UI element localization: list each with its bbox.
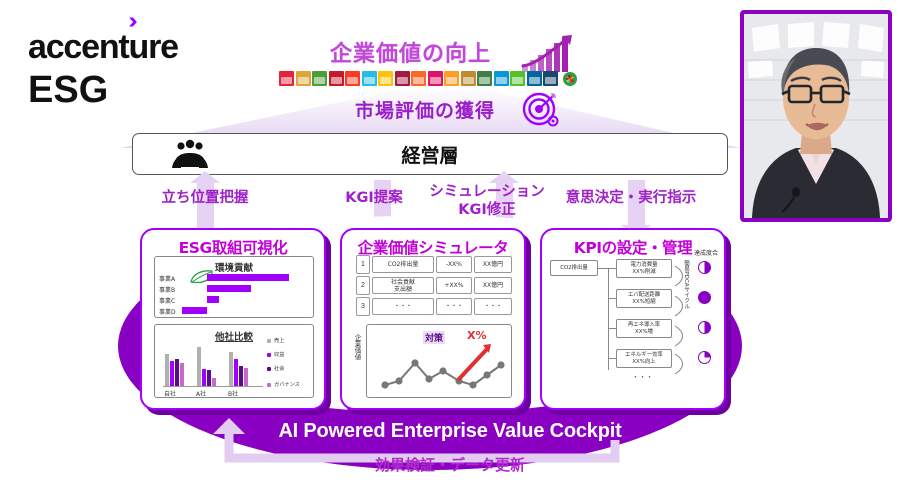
sdg-icon [510, 71, 525, 86]
sim-table-row[interactable]: 1 CO2排出量 -XX% XX億円 [356, 255, 512, 274]
sdg-wheel-icon [563, 72, 577, 86]
peer-bar [197, 347, 201, 387]
kpi-child-value-3: XX%増 [635, 329, 653, 336]
legend-swatch [267, 367, 271, 371]
peer-bar [229, 352, 233, 387]
legend-swatch [267, 353, 271, 357]
peer-legend-2: 社会 [274, 365, 284, 372]
arrow-head-icon [489, 171, 519, 183]
cockpit-banner-label: AI Powered Enterprise Value Cockpit [0, 420, 900, 443]
brand-wordmark: accenture › [28, 30, 178, 64]
peer-comparison-chart: 他社比較 自社 A社 B社 [154, 324, 314, 398]
slide-canvas: accenture › ESG 企業価値の向上 市場評価の獲得 [0, 0, 900, 490]
peer-chart-title: 他社比較 [155, 329, 313, 343]
peer-cat-0: 自社 [164, 389, 176, 398]
env-bar-0 [207, 274, 289, 281]
env-cat-3: 事業D [159, 307, 176, 316]
sim-row-number: 3 [356, 297, 370, 316]
env-bar-1 [207, 285, 251, 292]
legend-swatch [267, 383, 271, 387]
sim-row-delta: +XX% [436, 277, 472, 294]
kpi-connector [608, 358, 616, 359]
sdg-icon [494, 71, 509, 86]
gauge-column-header: 達成度合 [694, 248, 718, 257]
sim-row-number: 2 [356, 276, 370, 295]
sdg-icon [444, 71, 459, 86]
presenter-video[interactable] [740, 10, 892, 222]
kpi-gauge-2 [698, 291, 711, 304]
sdg-icon [329, 71, 344, 86]
sdg-icon [279, 71, 294, 86]
people-group-icon [170, 139, 210, 169]
pdca-cycle-label: 簡易PDCAサイクル [682, 260, 690, 309]
peer-bar [170, 361, 174, 387]
kpi-child-value-2: XX%短縮 [632, 299, 655, 306]
flow-label-4: 意思決定・実行指示 [552, 190, 710, 207]
sim-row-delta: -XX% [436, 256, 472, 273]
env-contribution-chart: 環境貢献 事業A 事業B 事業C 事業D [154, 256, 314, 318]
flow-label-1: 立ち位置把握 [150, 190, 260, 207]
headline-market-evaluation: 市場評価の獲得 [355, 96, 495, 123]
sdg-icon [461, 71, 476, 86]
legend-swatch [267, 339, 271, 343]
executive-layer-label: 経営層 [401, 141, 458, 168]
sim-graph-yaxis-label: 企業価値 [352, 334, 362, 360]
kpi-child-node[interactable]: エバ配送距離 XX%短縮 [616, 289, 672, 308]
peer-legend-1: 収益 [274, 351, 284, 358]
sim-row-item-line1: 社会貢献 [391, 279, 415, 286]
sim-trend-line [367, 325, 513, 399]
brand-subtitle: ESG [28, 68, 178, 112]
sdg-icon [428, 71, 443, 86]
brand-name: accenture [28, 28, 178, 66]
env-bar-2 [207, 296, 219, 303]
flow-label-2: KGI提案 [330, 190, 418, 207]
growth-chart-icon [520, 34, 576, 74]
sdg-icon [378, 71, 393, 86]
sim-row-delta: ・・・ [436, 298, 472, 315]
accenture-greater-than-icon: › [128, 9, 137, 32]
panel-esg-visualization[interactable]: ESG取組可視化 環境貢献 事業A 事業B 事業C 事業D 他社比較 [140, 228, 326, 410]
accenture-logo: accenture › ESG [28, 30, 178, 112]
peer-bar [165, 354, 169, 387]
peer-bar [202, 369, 206, 387]
sdg-icon [345, 71, 360, 86]
peer-bar [234, 359, 238, 387]
env-cat-1: 事業B [159, 285, 175, 294]
kpi-gauge-3 [698, 321, 711, 334]
sim-row-value: XX億円 [474, 256, 512, 273]
sdg-icon [477, 71, 492, 86]
sim-table-row[interactable]: 3 ・・・ ・・・ ・・・ [356, 297, 512, 316]
env-cat-2: 事業C [159, 296, 175, 305]
kpi-gauge-4 [698, 351, 711, 364]
sdg-icon [411, 71, 426, 86]
headline-corporate-value: 企業価値の向上 [330, 36, 491, 68]
kpi-connector [608, 328, 616, 329]
kpi-child-value-1: XX%削減 [632, 269, 655, 276]
sim-row-item: CO2排出量 [372, 256, 434, 273]
peer-bar [244, 368, 248, 387]
peer-bar [180, 363, 184, 387]
arrow-head-icon [190, 171, 220, 183]
sim-row-value: XX億円 [474, 277, 512, 294]
env-cat-0: 事業A [159, 274, 175, 283]
kpi-connector [608, 268, 609, 370]
kpi-child-value-4: XX%向上 [632, 359, 655, 366]
sdg-icon [312, 71, 327, 86]
kpi-connector [608, 298, 616, 299]
peer-bar [239, 366, 243, 387]
peer-legend-0: 売上 [274, 337, 284, 344]
sim-row-item-line2: 支出額 [394, 286, 412, 293]
kpi-connector [608, 268, 616, 269]
kpi-root-node[interactable]: CO2排出量 [550, 260, 598, 276]
panel-1-title: ESG取組可視化 [142, 236, 324, 258]
kpi-child-node[interactable]: 再エネ導入率 XX%増 [616, 319, 672, 338]
env-bar-3 [182, 307, 207, 314]
peer-cat-2: B社 [228, 389, 238, 398]
sim-row-item: 社会貢献 支出額 [372, 277, 434, 294]
sim-graph: 対策 X% [366, 324, 512, 398]
peer-cat-1: A社 [196, 389, 206, 398]
kpi-connector [598, 268, 608, 269]
kpi-child-node[interactable]: 電力消費量 XX%削減 [616, 259, 672, 278]
feedback-label: 効果検証・データ更新 [0, 454, 900, 475]
executive-layer-box[interactable]: 経営層 [132, 133, 728, 175]
sdg-icon [395, 71, 410, 86]
sdg-icon [296, 71, 311, 86]
kpi-root-label: CO2排出量 [560, 265, 588, 272]
sdg-icon-strip [279, 71, 577, 86]
panel-value-simulator[interactable]: 企業価値シミュレータ 1 CO2排出量 -XX% XX億円 2 社会貢献 支出額… [340, 228, 526, 410]
peer-bar [207, 370, 211, 387]
sdg-icon [543, 71, 558, 86]
target-gear-icon [520, 90, 564, 130]
sim-row-item: ・・・ [372, 298, 434, 315]
kpi-ellipsis: ・・・ [632, 372, 653, 382]
panel-kpi-management[interactable]: KPIの設定・管理 CO2排出量 電力消費量 XX%削減 エバ配送距離 XX%短… [540, 228, 726, 410]
flow-label-3-line1: シミュレーション [422, 184, 552, 201]
sdg-icon [527, 71, 542, 86]
env-chart-title: 環境貢献 [155, 260, 313, 274]
kpi-child-node[interactable]: エネルギー効率 XX%向上 [616, 349, 672, 368]
sim-table-row[interactable]: 2 社会貢献 支出額 +XX% XX億円 [356, 276, 512, 295]
sim-row-value: ・・・ [474, 298, 512, 315]
peer-bar [175, 359, 179, 387]
sdg-icon [362, 71, 377, 86]
kpi-gauge-1 [698, 261, 711, 274]
peer-legend-3: ガバナンス [274, 381, 300, 388]
sim-row-number: 1 [356, 255, 370, 274]
